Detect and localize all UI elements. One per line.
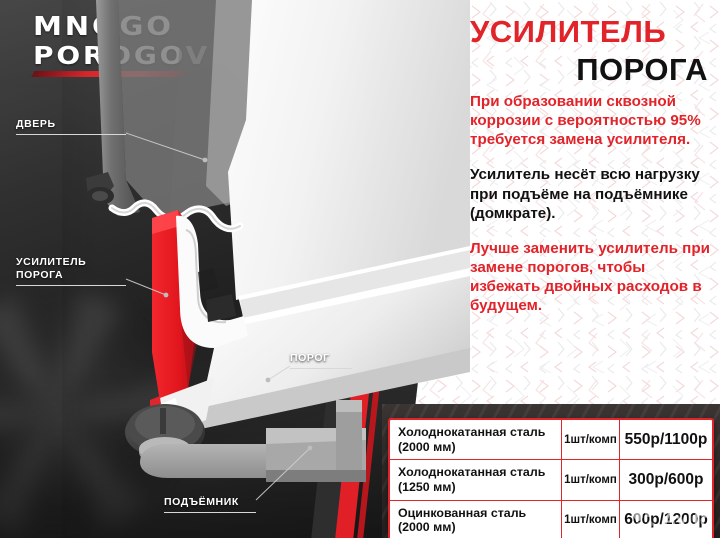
table-cell-price: 550р/1100р (620, 420, 712, 459)
table-cell-material: Холоднокатанная сталь (2000 мм) (390, 420, 562, 459)
material-line-2: (1250 мм) (398, 480, 555, 495)
table-row[interactable]: Холоднокатанная сталь (2000 мм) 1шт/комп… (390, 420, 712, 460)
lift-arm (140, 444, 270, 478)
title-line-1: УСИЛИТЕЛЬ (470, 14, 708, 50)
callout-lift-rule (164, 512, 256, 513)
table-cell-qty: 1шт/комп (562, 501, 620, 538)
avito-watermark-text: Avito (663, 510, 712, 532)
poster-root: MNOGO POROGOV УСИЛИТЕЛЬ ПОРОГА При образ… (0, 0, 720, 538)
avito-logo-icon (634, 510, 658, 532)
table-cell-price: 300р/600р (620, 460, 712, 499)
material-line-1: Оцинкованная сталь (398, 506, 555, 521)
material-line-2: (2000 мм) (398, 440, 555, 455)
table-cell-material: Холоднокатанная сталь (1250 мм) (390, 460, 562, 499)
copy-paragraph-3: Лучше заменить усилитель при замене поро… (470, 239, 710, 316)
material-line-2: (2000 мм) (398, 520, 555, 535)
title-line-2: ПОРОГА (470, 52, 708, 88)
sill-seam-notch-2 (198, 268, 218, 292)
door-seal-core (92, 191, 108, 201)
poster-title: УСИЛИТЕЛЬ ПОРОГА (470, 14, 708, 88)
table-cell-qty: 1шт/комп (562, 420, 620, 459)
callout-sill-rule (290, 368, 352, 369)
callout-lift-label: ПОДЪЁМНИК (164, 496, 256, 509)
lift-puck-slot (160, 408, 166, 434)
table-cell-qty: 1шт/комп (562, 460, 620, 499)
callout-door-rule (16, 134, 126, 135)
callout-door-label: ДВЕРЬ (16, 118, 126, 131)
material-line-1: Холоднокатанная сталь (398, 425, 555, 440)
lift-post-top (336, 400, 362, 412)
table-cell-material: Оцинкованная сталь (2000 мм) (390, 501, 562, 538)
callout-reinforcement-label-1: УСИЛИТЕЛЬ (16, 256, 126, 269)
avito-watermark: Avito (634, 510, 712, 532)
callout-door: ДВЕРЬ (16, 118, 126, 135)
sill-seam-notch (206, 294, 236, 322)
body-copy: При образовании сквозной коррозии с веро… (470, 92, 710, 331)
callout-sill-label: ПОРОГ (290, 352, 352, 365)
copy-paragraph-1: При образовании сквозной коррозии с веро… (470, 92, 710, 149)
callout-lift: ПОДЪЁМНИК (164, 496, 256, 513)
callout-reinforcement: УСИЛИТЕЛЬ ПОРОГА (16, 256, 126, 286)
copy-paragraph-2: Усилитель несёт всю нагрузку при подъёме… (470, 165, 710, 222)
table-row[interactable]: Холоднокатанная сталь (1250 мм) 1шт/комп… (390, 460, 712, 500)
callout-reinforcement-rule (16, 285, 126, 286)
callout-reinforcement-label-2: ПОРОГА (16, 269, 126, 282)
material-line-1: Холоднокатанная сталь (398, 465, 555, 480)
callout-sill: ПОРОГ (290, 352, 352, 369)
